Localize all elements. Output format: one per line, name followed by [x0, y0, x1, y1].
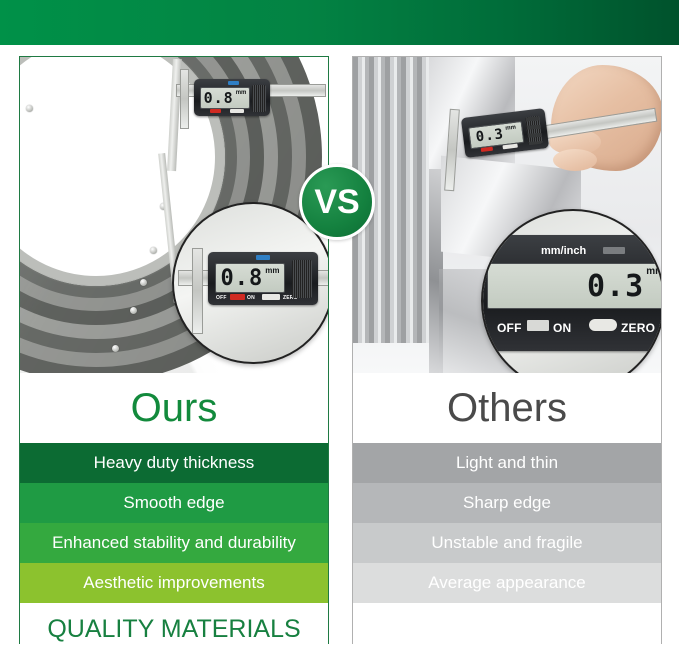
comparison-panel-others: 0.3mm mm/inch 0.3mm OFF ON ZERO Others: [352, 56, 662, 644]
panel-heading-ours: Ours: [20, 373, 328, 443]
caliper-unit: mm: [236, 90, 247, 96]
caliper-jaw: [180, 69, 189, 129]
caliper-zero-button[interactable]: [262, 294, 280, 300]
feature-row: Enhanced stability and durability: [20, 523, 328, 563]
caliper-value: 0.8: [204, 89, 234, 107]
caliper-unit: mm: [646, 266, 661, 277]
caliper-mode-label: mm/inch: [541, 245, 586, 257]
feature-row: Sharp edge: [353, 483, 661, 523]
caliper-thumbwheel[interactable]: [525, 116, 542, 145]
caliper-on-label: ON: [247, 295, 255, 301]
caliper-value: 0.3: [475, 126, 505, 145]
caliper-display: 0.8mm: [215, 263, 285, 293]
panel-footer-others: [353, 603, 661, 655]
caliper-off-label: OFF: [216, 295, 227, 301]
caliper-unit: mm: [265, 266, 279, 275]
caliper-zero-button[interactable]: [230, 109, 244, 113]
vs-badge: VS: [299, 164, 375, 240]
caliper-body: mm/inch 0.3mm OFF ON ZERO: [481, 235, 661, 351]
caliper-value: 0.8: [221, 266, 264, 291]
caliper-jaw: [192, 248, 203, 334]
top-banner: [0, 0, 679, 45]
caliper-thumbwheel[interactable]: [292, 260, 312, 298]
caliper-unit: mm: [505, 125, 516, 132]
comparison-panel-ours: 0.8mm 0.8mm OFF ON ZERO Ours: [19, 56, 329, 644]
caliper-off-button[interactable]: [210, 109, 221, 113]
feature-row: Heavy duty thickness: [20, 443, 328, 483]
caliper-display: 0.3mm: [487, 263, 661, 309]
caliper-tab: [603, 247, 625, 254]
caliper-body: 0.8mm: [194, 79, 270, 116]
caliper-zero-label: ZERO: [621, 321, 655, 335]
caliper-off-button[interactable]: [230, 294, 245, 300]
product-photo-others: 0.3mm mm/inch 0.3mm OFF ON ZERO: [353, 57, 661, 373]
caliper-on-label: ON: [553, 321, 571, 335]
caliper-body: 0.8mm OFF ON ZERO: [208, 252, 318, 305]
caliper-off-button[interactable]: [481, 147, 493, 152]
bolt-icon: [150, 247, 157, 254]
caliper-tab: [256, 255, 270, 260]
feature-row: Light and thin: [353, 443, 661, 483]
feature-list-others: Light and thin Sharp edge Unstable and f…: [353, 443, 661, 603]
feature-row: Unstable and fragile: [353, 523, 661, 563]
caliper-display: 0.8mm: [200, 87, 250, 109]
bolt-icon: [26, 105, 33, 112]
caliper-zero-button[interactable]: [589, 319, 617, 331]
product-photo-ours: 0.8mm 0.8mm OFF ON ZERO: [20, 57, 328, 373]
zoom-inset-ours: 0.8mm OFF ON ZERO: [172, 202, 328, 364]
caliper-zero-button[interactable]: [502, 144, 517, 150]
bolt-icon: [130, 307, 137, 314]
feature-row: Smooth edge: [20, 483, 328, 523]
caliper-tab: [228, 81, 239, 85]
bolt-icon: [140, 279, 147, 286]
panel-heading-others: Others: [353, 373, 661, 443]
feature-row: Aesthetic improvements: [20, 563, 328, 603]
feature-list-ours: Heavy duty thickness Smooth edge Enhance…: [20, 443, 328, 603]
caliper-thumbwheel[interactable]: [252, 85, 266, 112]
caliper-off-label: OFF: [497, 321, 522, 335]
feature-row: Average appearance: [353, 563, 661, 603]
bolt-icon: [112, 345, 119, 352]
caliper-value: 0.3: [587, 269, 644, 304]
caliper-off-button[interactable]: [527, 320, 549, 331]
panel-footer-ours: QUALITY MATERIALS: [20, 603, 328, 655]
finger: [553, 149, 597, 171]
